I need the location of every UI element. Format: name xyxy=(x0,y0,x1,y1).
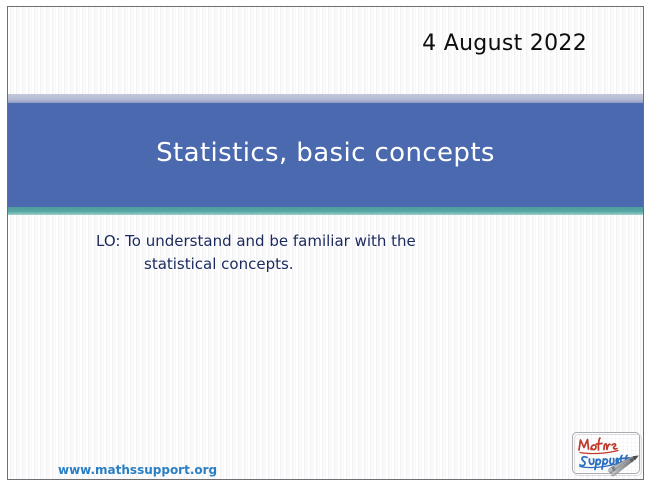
banner-blue-band: Statistics, basic concepts xyxy=(8,103,643,207)
learning-objective-line-1: LO: To understand and be familiar with t… xyxy=(96,232,416,250)
slide: 4 August 2022 Statistics, basic concepts… xyxy=(0,0,651,486)
learning-objective: LO: To understand and be familiar with t… xyxy=(96,230,516,275)
title-banner: Statistics, basic concepts xyxy=(8,94,643,216)
banner-top-accent-strip xyxy=(8,94,643,103)
slide-date: 4 August 2022 xyxy=(422,31,587,56)
learning-objective-line-2: statistical concepts. xyxy=(96,253,516,276)
banner-teal-accent-strip xyxy=(8,207,643,215)
slide-title: Statistics, basic concepts xyxy=(156,138,495,168)
website-url[interactable]: www.mathssupport.org xyxy=(58,463,217,477)
maths-support-logo[interactable] xyxy=(571,430,643,478)
